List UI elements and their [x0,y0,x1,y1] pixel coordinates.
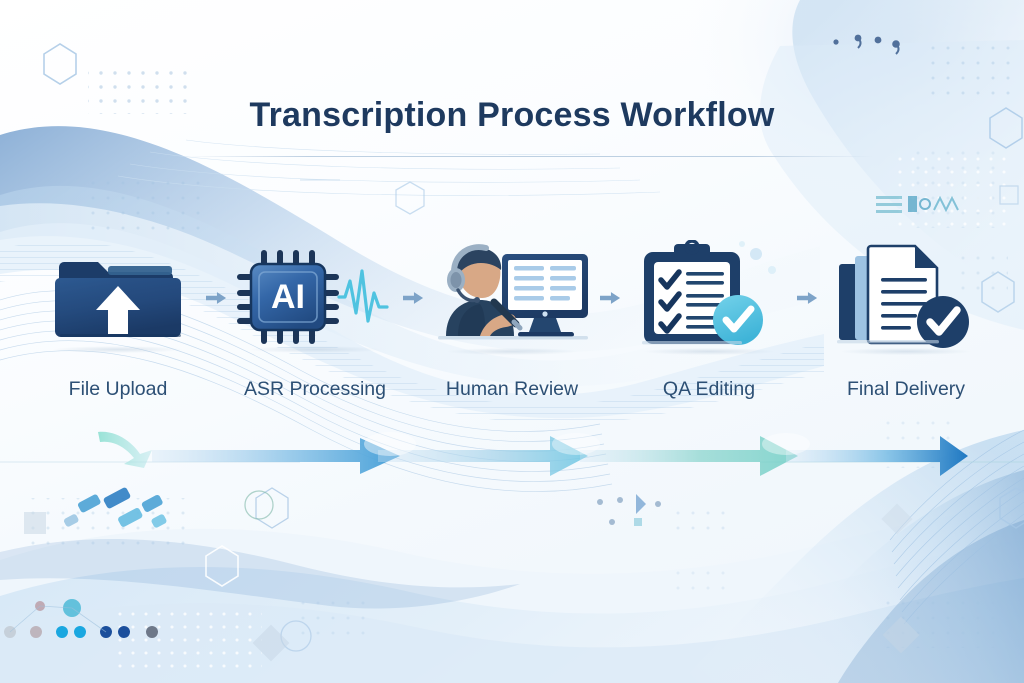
asr-processing-icon-box: AI [227,238,403,358]
arrow-file-upload-to-asr [206,238,227,358]
step-label-file-upload: File Upload [69,378,168,401]
folder-upload-icon [48,242,188,350]
clipboard-checklist-icon [634,240,784,352]
arrow-human-review-to-qa [600,238,621,358]
ai-chip-waveform-icon: AI [235,242,395,350]
right-arrow-icon [206,283,227,313]
title-block: Transcription Process Workflow [0,96,1024,135]
headset-agent-monitor-icon [428,240,596,352]
arrow-qa-to-final-delivery [797,238,818,358]
step-label-asr-processing: ASR Processing [244,378,386,401]
right-arrow-icon [600,283,621,313]
right-arrow-icon [797,283,818,313]
title-divider [186,156,874,157]
step-label-final-delivery: Final Delivery [847,378,965,401]
workflow-step-file-upload[interactable]: File Upload [30,238,206,401]
step-label-human-review: Human Review [446,378,578,401]
workflow-steps: File Upload [30,238,994,413]
arrow-asr-to-human-review [403,238,424,358]
final-delivery-icon-box [818,238,994,358]
step-label-qa-editing: QA Editing [663,378,755,401]
icon-shadow [841,348,971,355]
icon-shadow [250,346,380,353]
icon-shadow [447,348,577,355]
icon-shadow [644,348,774,355]
workflow-progress-arrows [60,424,970,480]
infographic-canvas: Transcription Process Workflow [0,0,1024,683]
workflow-step-human-review[interactable]: Human Review [424,238,600,401]
file-upload-icon-box [30,238,206,358]
workflow-step-qa-editing[interactable]: QA Editing [621,238,797,401]
page-title: Transcription Process Workflow [0,96,1024,135]
icon-shadow [53,346,183,353]
svg-text:AI: AI [271,278,305,316]
human-review-icon-box [424,238,600,358]
documents-check-icon [831,240,981,352]
qa-editing-icon-box [621,238,797,358]
workflow-step-final-delivery[interactable]: Final Delivery [818,238,994,401]
workflow-step-asr-processing[interactable]: AI ASR Processing [227,238,403,401]
right-arrow-icon [403,283,424,313]
